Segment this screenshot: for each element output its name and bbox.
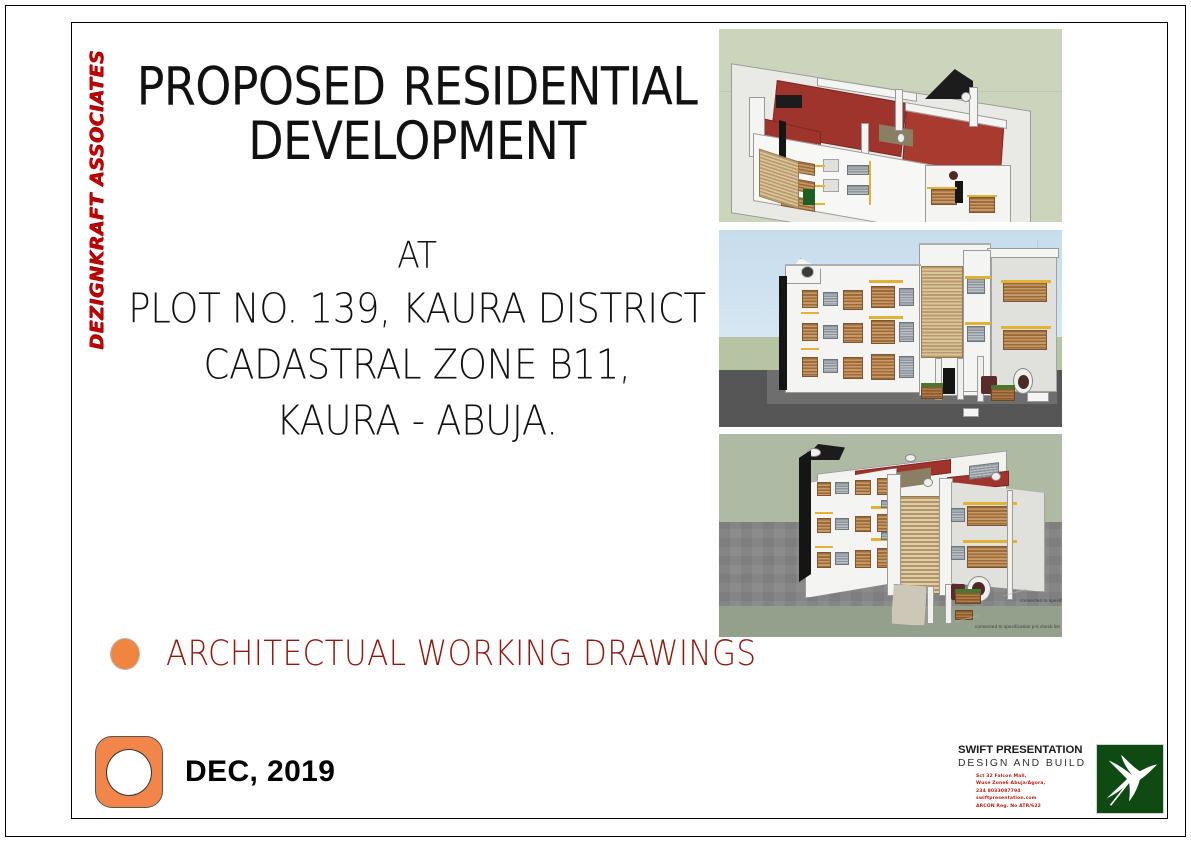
timber-shutter: [817, 482, 831, 496]
date-badge-inner-circle: [106, 749, 152, 796]
date-badge-icon: [95, 736, 163, 808]
annotation-label: connected to specification p-ti check li…: [975, 624, 1060, 629]
planter-box: [991, 388, 1015, 401]
canopy-band: [801, 312, 819, 314]
interior-element: [847, 185, 869, 195]
timber-shutter: [855, 550, 871, 568]
page-title: PROPOSED RESIDENTIAL DEVELOPMENT: [112, 60, 722, 169]
studio-name-label: DEZIGNKRAFT ASSOCIATES: [86, 50, 108, 350]
shadow-void: [799, 450, 811, 582]
timber-shutter: [1003, 282, 1047, 302]
window: [899, 322, 914, 342]
logo-title: SWIFT PRESENTATION: [958, 744, 1096, 756]
timber-shutter: [843, 323, 863, 343]
planter-foliage: [991, 385, 1015, 389]
interior-element: [847, 165, 869, 175]
site-wall: [1027, 392, 1049, 402]
contact-line: Sct 32 Falcon Mall,: [976, 773, 1096, 780]
pier: [939, 478, 953, 596]
window: [967, 326, 985, 342]
window: [835, 482, 849, 494]
door-opening: [955, 181, 963, 203]
render-ground-green: [719, 606, 1062, 637]
accent-band: [815, 203, 825, 205]
planter-foliage: [921, 383, 943, 387]
date-label: DEC, 2019: [185, 755, 335, 789]
accent-band: [967, 195, 997, 197]
timber-shutter: [802, 290, 818, 308]
oculus-window: [905, 454, 916, 462]
canopy-band: [815, 512, 833, 514]
timber-shutter: [855, 516, 871, 532]
roof-edge: [785, 264, 921, 266]
planter-foliage: [955, 589, 981, 593]
accent-band: [815, 165, 825, 167]
interior-element: [823, 159, 839, 172]
drawing-type-label: ARCHITECTUAL WORKING DRAWINGS: [166, 634, 757, 674]
oculus-window: [801, 266, 814, 278]
drawing-type-row: ARCHITECTUAL WORKING DRAWINGS: [110, 636, 757, 672]
louvre-vent: [951, 546, 965, 560]
project-address: AT PLOT NO. 139, KAURA DISTRICT CADASTRA…: [112, 230, 722, 449]
parapet-wall: [895, 89, 903, 131]
timber-shutter: [817, 552, 831, 568]
date-row: DEC, 2019: [95, 736, 335, 808]
address-line-1: PLOT NO. 139, KAURA DISTRICT: [112, 280, 722, 336]
timber-shutter: [855, 480, 871, 495]
timber-screen-feature: [921, 266, 963, 358]
entry-recess: [943, 368, 955, 394]
timber-panel: [969, 197, 995, 213]
oculus-window: [961, 92, 971, 102]
drawing-sheet: DEZIGNKRAFT ASSOCIATES PROPOSED RESIDENT…: [0, 0, 1191, 842]
timber-shutter: [871, 354, 895, 380]
accent-band: [815, 185, 825, 187]
window: [823, 292, 838, 306]
rendering-aerial-roof-plan-view: [719, 29, 1062, 222]
window: [899, 356, 914, 378]
canopy-band: [869, 280, 903, 283]
company-logo-block: SWIFT PRESENTATION DESIGN AND BUILD Sct …: [958, 744, 1164, 818]
shadow-void: [779, 276, 787, 390]
louvre-vent: [951, 508, 965, 522]
contact-line: Wuse Zone6 Abuja/Agora,: [976, 780, 1096, 787]
planter-box: [921, 386, 943, 399]
pier: [887, 474, 901, 596]
logo-contact-block: Sct 32 Falcon Mall, Wuse Zone6 Abuja/Ago…: [976, 773, 1096, 810]
timber-shutter: [871, 320, 895, 344]
logo-subtitle: DESIGN AND BUILD: [958, 758, 1096, 769]
site-wall: [963, 408, 979, 417]
interior-element: [823, 179, 839, 192]
column: [927, 586, 934, 624]
window: [835, 518, 849, 530]
oculus-window: [949, 171, 958, 180]
bullet-circle-icon: [110, 638, 140, 670]
timber-shutter: [1003, 330, 1047, 350]
window: [823, 325, 838, 339]
interior-element: [803, 189, 815, 205]
entry-paving: [891, 584, 927, 626]
address-line-2: CADASTRAL ZONE B11,: [112, 336, 722, 392]
rendering-front-elevation-perspective: [719, 230, 1062, 427]
roof-slab: [987, 248, 1059, 258]
canopy-band: [801, 348, 819, 350]
timber-shutter: [843, 290, 863, 310]
canopy-band: [965, 322, 991, 325]
studio-name-vertical: DEZIGNKRAFT ASSOCIATES: [84, 78, 110, 322]
column: [1007, 490, 1013, 600]
window: [899, 288, 914, 306]
oculus-window: [897, 133, 905, 143]
oculus-window: [991, 472, 1001, 481]
swift-bird-icon: [1096, 744, 1164, 814]
oculus-window: [1018, 375, 1029, 389]
contact-line: 234 8033087794: [976, 788, 1096, 795]
contact-line: swiftpresentation.com: [976, 795, 1096, 802]
timber-shutter: [871, 286, 895, 308]
canopy-band: [1001, 326, 1051, 329]
timber-panel: [931, 189, 957, 205]
window: [967, 278, 985, 294]
column: [957, 358, 964, 400]
logo-text-group: SWIFT PRESENTATION DESIGN AND BUILD Sct …: [958, 744, 1096, 810]
roof-dark-plane: [776, 95, 802, 108]
planter-box: [955, 592, 981, 604]
annotation-label: connected to specification: [1020, 598, 1062, 603]
window: [835, 552, 849, 565]
oculus-window: [923, 478, 933, 487]
timber-shutter: [817, 518, 831, 533]
canopy-band: [869, 316, 903, 319]
canopy-band: [815, 546, 833, 548]
parapet-wall: [969, 87, 978, 127]
facade-right: [951, 482, 1045, 592]
timber-shutter: [802, 357, 818, 377]
timber-shutter: [802, 323, 818, 341]
title-block: PROPOSED RESIDENTIAL DEVELOPMENT AT PLOT…: [112, 60, 722, 428]
canopy-band: [1001, 280, 1051, 283]
address-at: AT: [112, 230, 722, 280]
accent-band: [869, 161, 871, 205]
contact-line: ARCON Reg. No ATR/622: [976, 803, 1096, 810]
timber-shutter: [843, 357, 863, 379]
roof-edge: [919, 243, 991, 245]
timber-screen-feature: [897, 496, 941, 594]
window: [823, 359, 838, 373]
address-line-3: KAURA - ABUJA.: [112, 392, 722, 448]
canopy-band: [965, 276, 991, 279]
rendering-rear-aerial-perspective: connected to specification connected to …: [719, 434, 1062, 637]
accent-band: [927, 187, 957, 189]
